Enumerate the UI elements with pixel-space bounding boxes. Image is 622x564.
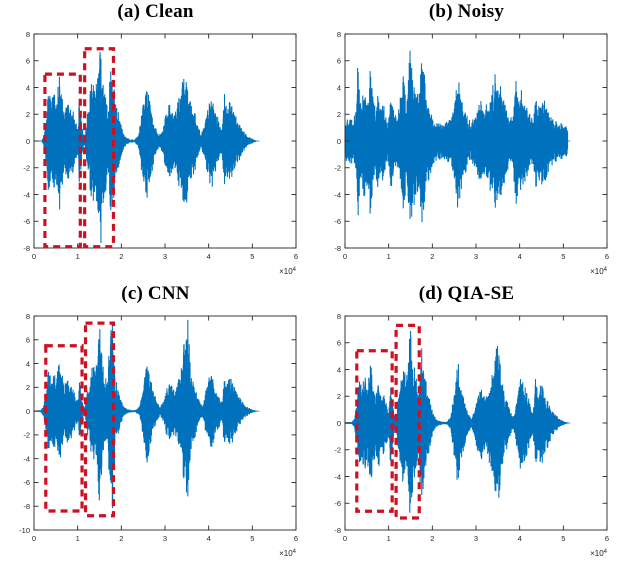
- x-tick-label: 4: [207, 252, 211, 261]
- x-tick-label: 1: [387, 534, 391, 543]
- x-axis-multiplier-text: ×104: [279, 267, 297, 276]
- x-tick-label: 4: [207, 534, 211, 543]
- x-tick-label: 3: [474, 252, 478, 261]
- y-tick-label: 8: [337, 30, 341, 39]
- panel-c-plot: 012345686420-2-4-6-8-10×104: [0, 282, 311, 564]
- x-tick-label: 5: [250, 534, 254, 543]
- panel-b-plot: 012345686420-2-4-6-8×104: [311, 0, 622, 282]
- y-tick-label: -4: [334, 190, 341, 199]
- y-tick-label: 8: [26, 30, 30, 39]
- waveform-figure: (a) Clean 012345686420-2-4-6-8×104 (b) N…: [0, 0, 622, 564]
- panel-d-svg: 012345686420-2-4-6-8×104: [311, 282, 622, 564]
- x-tick-label: 1: [76, 534, 80, 543]
- y-tick-label: -6: [334, 217, 341, 226]
- y-tick-label: -10: [19, 526, 30, 535]
- y-tick-label: 0: [26, 407, 30, 416]
- y-tick-label: 4: [26, 359, 30, 368]
- panel-d-plot: 012345686420-2-4-6-8×104: [311, 282, 622, 564]
- y-tick-label: -8: [23, 502, 30, 511]
- panel-b: (b) Noisy 012345686420-2-4-6-8×104: [311, 0, 622, 282]
- y-tick-label: 8: [26, 312, 30, 321]
- x-tick-label: 6: [605, 252, 609, 261]
- y-tick-label: 4: [26, 83, 30, 92]
- y-tick-label: -8: [23, 244, 30, 253]
- y-tick-label: -6: [334, 499, 341, 508]
- y-tick-label: 6: [337, 339, 341, 348]
- panel-c: (c) CNN 012345686420-2-4-6-8-10×104: [0, 282, 311, 564]
- y-tick-label: 4: [337, 365, 341, 374]
- x-tick-label: 6: [294, 252, 298, 261]
- x-tick-label: 5: [561, 252, 565, 261]
- x-tick-label: 4: [518, 252, 522, 261]
- panel-a: (a) Clean 012345686420-2-4-6-8×104: [0, 0, 311, 282]
- x-axis-multiplier-text: ×104: [590, 267, 608, 276]
- x-axis-multiplier-text: ×104: [590, 549, 608, 558]
- x-tick-label: 6: [294, 534, 298, 543]
- panel-a-plot: 012345686420-2-4-6-8×104: [0, 0, 311, 282]
- y-tick-label: 6: [26, 57, 30, 66]
- y-tick-label: -6: [23, 478, 30, 487]
- x-tick-label: 1: [76, 252, 80, 261]
- x-tick-label: 2: [430, 534, 434, 543]
- y-tick-label: -2: [334, 164, 341, 173]
- y-tick-label: -2: [23, 431, 30, 440]
- x-tick-label: 0: [32, 534, 36, 543]
- y-tick-label: 0: [26, 137, 30, 146]
- x-tick-label: 6: [605, 534, 609, 543]
- x-tick-label: 2: [119, 534, 123, 543]
- y-tick-label: 8: [337, 312, 341, 321]
- x-axis-multiplier: ×104: [279, 267, 297, 276]
- y-tick-label: -8: [334, 526, 341, 535]
- y-tick-label: -4: [334, 472, 341, 481]
- x-tick-label: 4: [518, 534, 522, 543]
- x-tick-label: 0: [343, 534, 347, 543]
- y-tick-label: 4: [337, 83, 341, 92]
- y-tick-label: -4: [23, 454, 30, 463]
- x-tick-label: 2: [119, 252, 123, 261]
- y-tick-label: 6: [337, 57, 341, 66]
- y-tick-label: 2: [26, 383, 30, 392]
- x-tick-label: 0: [32, 252, 36, 261]
- panel-d: (d) QIA-SE 012345686420-2-4-6-8×104: [311, 282, 622, 564]
- x-axis-multiplier-text: ×104: [279, 549, 297, 558]
- y-tick-label: -2: [334, 446, 341, 455]
- x-tick-label: 0: [343, 252, 347, 261]
- y-tick-label: 2: [337, 392, 341, 401]
- y-tick-label: -4: [23, 190, 30, 199]
- x-axis-multiplier: ×104: [590, 549, 608, 558]
- y-tick-label: -2: [23, 164, 30, 173]
- x-axis-multiplier: ×104: [590, 267, 608, 276]
- x-tick-label: 3: [474, 534, 478, 543]
- x-tick-label: 5: [250, 252, 254, 261]
- x-tick-label: 5: [561, 534, 565, 543]
- y-tick-label: 6: [26, 336, 30, 345]
- y-tick-label: -8: [334, 244, 341, 253]
- panel-a-svg: 012345686420-2-4-6-8×104: [0, 0, 311, 282]
- x-tick-label: 2: [430, 252, 434, 261]
- panel-c-svg: 012345686420-2-4-6-8-10×104: [0, 282, 311, 564]
- y-tick-label: 0: [337, 137, 341, 146]
- x-tick-label: 3: [163, 534, 167, 543]
- panel-b-svg: 012345686420-2-4-6-8×104: [311, 0, 622, 282]
- x-tick-label: 3: [163, 252, 167, 261]
- x-tick-label: 1: [387, 252, 391, 261]
- x-axis-multiplier: ×104: [279, 549, 297, 558]
- y-tick-label: 2: [26, 110, 30, 119]
- y-tick-label: 2: [337, 110, 341, 119]
- y-tick-label: -6: [23, 217, 30, 226]
- y-tick-label: 0: [337, 419, 341, 428]
